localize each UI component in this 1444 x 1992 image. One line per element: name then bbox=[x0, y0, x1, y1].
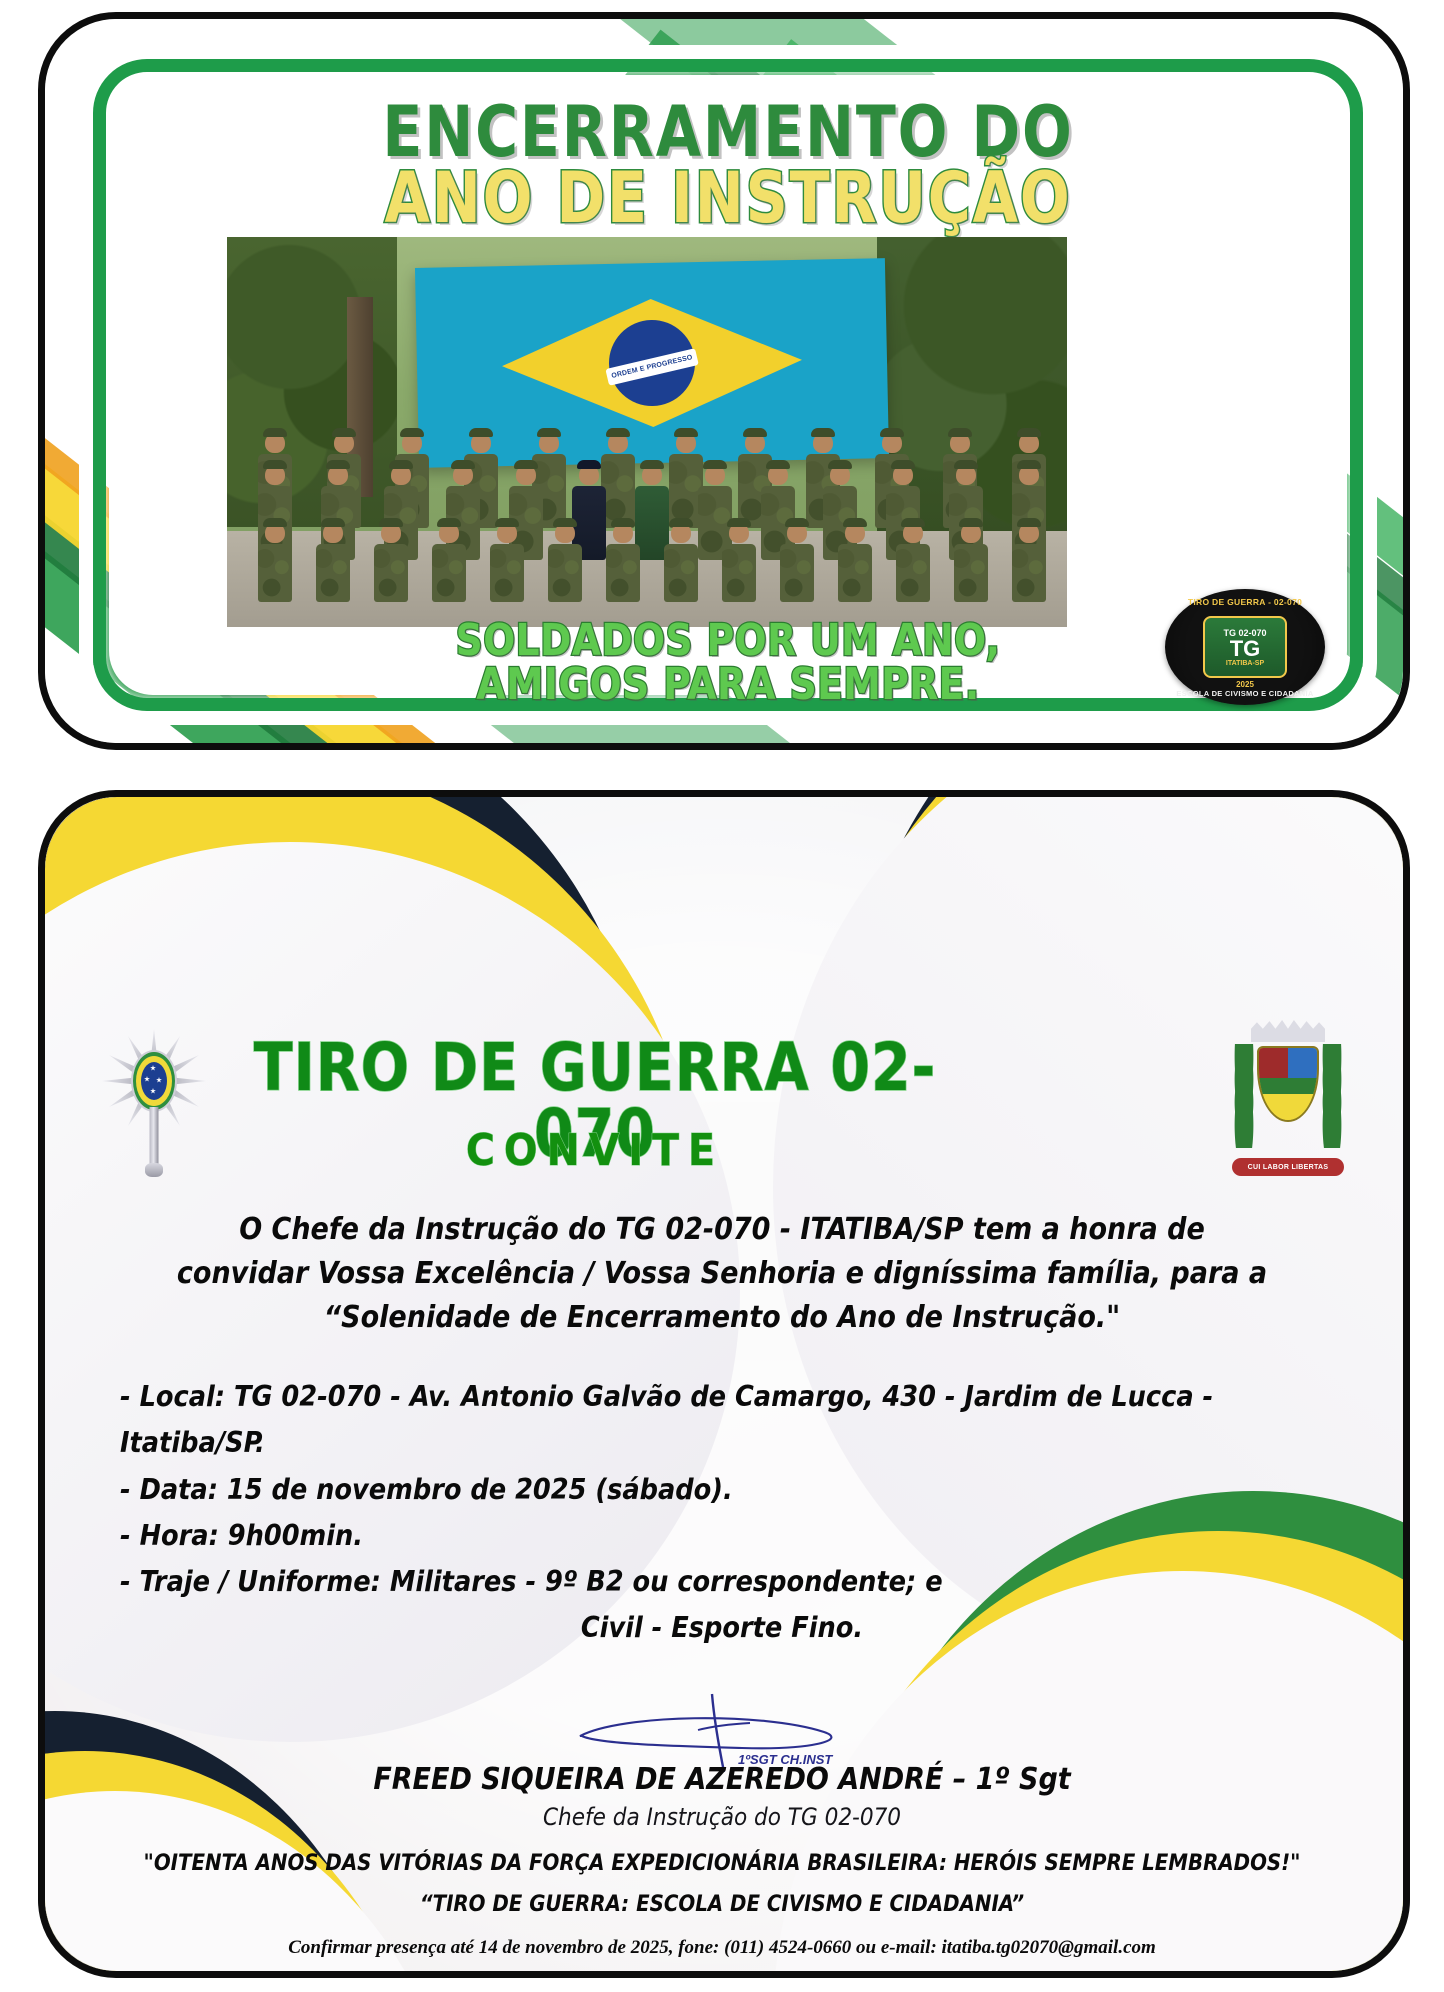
arms-motto-ribbon: CUI LABOR LIBERTAS bbox=[1232, 1158, 1344, 1176]
crest-sword-hilt bbox=[145, 1163, 163, 1177]
detail-traje-civil: Civil - Esporte Fino. bbox=[90, 1605, 1354, 1651]
detail-traje: - Traje / Uniforme: Militares - 9º B2 ou… bbox=[90, 1559, 1354, 1605]
signer-name: FREED SIQUEIRA DE AZEREDO ANDRÉ – 1º Sgt bbox=[0, 1762, 1444, 1797]
crest-stars bbox=[141, 1062, 167, 1100]
detail-hora: - Hora: 9h00min. bbox=[90, 1513, 1354, 1559]
signature-block: 1ºSGT CH.INST FREED SIQUEIRA DE AZEREDO … bbox=[0, 1690, 1444, 1959]
detail-local: - Local: TG 02-070 - Av. Antonio Galvão … bbox=[90, 1374, 1354, 1466]
arms-wreath-right bbox=[1315, 1044, 1349, 1148]
motto-tg: “TIRO DE GUERRA: ESCOLA DE CIVISMO E CID… bbox=[0, 1892, 1444, 1917]
body-line-3: “Solenidade de Encerramento do Ano de In… bbox=[90, 1296, 1354, 1340]
body-line-1: O Chefe da Instrução do TG 02-070 - ITAT… bbox=[90, 1208, 1354, 1252]
arms-mural-crown bbox=[1251, 1020, 1325, 1042]
motto-feb: "OITENTA ANOS DAS VITÓRIAS DA FORÇA EXPE… bbox=[0, 1851, 1444, 1876]
invitation-subtitle: CONVITE bbox=[215, 1125, 975, 1176]
brazilian-army-crest-icon bbox=[100, 1025, 208, 1177]
event-details-list: - Local: TG 02-070 - Av. Antonio Galvão … bbox=[90, 1374, 1354, 1651]
itatiba-coat-of-arms-icon: CUI LABOR LIBERTAS bbox=[1227, 1020, 1349, 1180]
arms-wreath-left bbox=[1227, 1044, 1261, 1148]
signer-role: Chefe da Instrução do TG 02-070 bbox=[0, 1803, 1444, 1831]
invitation-body: O Chefe da Instrução do TG 02-070 - ITAT… bbox=[90, 1208, 1354, 1651]
arms-motto-text: CUI LABOR LIBERTAS bbox=[1248, 1164, 1329, 1171]
detail-data: - Data: 15 de novembro de 2025 (sábado). bbox=[90, 1467, 1354, 1513]
invitation-content: CUI LABOR LIBERTAS TIRO DE GUERRA 02-070… bbox=[0, 0, 1444, 1992]
body-line-2: convidar Vossa Excelência / Vossa Senhor… bbox=[90, 1252, 1354, 1296]
invitation-page: ENCERRAMENTO DO ANO DE INSTRUÇÃO ORDEM E… bbox=[0, 0, 1444, 1992]
arms-shield bbox=[1257, 1046, 1319, 1122]
rsvp-contact-line: Confirmar presença até 14 de novembro de… bbox=[0, 1937, 1444, 1959]
